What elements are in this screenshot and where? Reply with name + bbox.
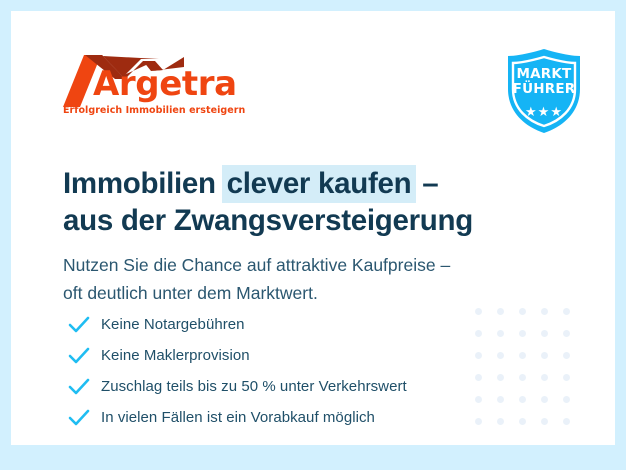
check-icon	[66, 374, 92, 400]
dot	[541, 418, 548, 425]
subheading-line-2: oft deutlich unter dem Marktwert.	[63, 283, 318, 303]
logo-tagline: Erfolgreich Immobilien ersteigern	[63, 105, 245, 116]
dot	[563, 418, 570, 425]
headline-part-before: Immobilien	[63, 167, 224, 200]
dot	[541, 396, 548, 403]
list-item-label: Zuschlag teils bis zu 50 % unter Verkehr…	[101, 377, 407, 397]
list-item-label: Keine Maklerprovision	[101, 346, 250, 366]
subheading-line-1: Nutzen Sie die Chance auf attraktive Kau…	[63, 255, 450, 275]
list-item-label: In vielen Fällen ist ein Vorabkauf mögli…	[101, 408, 375, 428]
badge-stars-icon: ★★★	[500, 105, 588, 118]
list-item: Keine Notargebühren	[66, 309, 536, 340]
benefits-list: Keine Notargebühren Keine Maklerprovisio…	[66, 309, 536, 433]
list-item: Zuschlag teils bis zu 50 % unter Verkehr…	[66, 371, 536, 402]
badge-line-1: MARKT	[500, 67, 588, 82]
dot	[563, 352, 570, 359]
banner-card: Argetra Erfolgreich Immobilien ersteiger…	[11, 11, 615, 445]
check-icon	[66, 405, 92, 431]
check-icon	[66, 343, 92, 369]
headline-highlight: clever kaufen	[222, 165, 417, 203]
dot	[563, 396, 570, 403]
list-item-label: Keine Notargebühren	[101, 315, 245, 335]
promo-banner: Argetra Erfolgreich Immobilien ersteiger…	[0, 0, 626, 470]
dot	[563, 308, 570, 315]
list-item: In vielen Fällen ist ein Vorabkauf mögli…	[66, 402, 536, 433]
check-icon	[66, 312, 92, 338]
dot	[541, 308, 548, 315]
dot	[541, 374, 548, 381]
subheading: Nutzen Sie die Chance auf attraktive Kau…	[63, 251, 583, 307]
page-title: Immobilien clever kaufen – aus der Zwang…	[63, 165, 583, 239]
list-item: Keine Maklerprovision	[66, 340, 536, 371]
dot	[563, 330, 570, 337]
logo-wordmark: Argetra	[93, 67, 237, 101]
market-leader-badge: MARKT FÜHRER ★★★	[500, 47, 588, 135]
dot	[563, 374, 570, 381]
badge-line-2: FÜHRER	[500, 82, 588, 97]
badge-text: MARKT FÜHRER	[500, 67, 588, 97]
headline-part-after: –	[414, 167, 438, 200]
dot	[541, 352, 548, 359]
dot	[541, 330, 548, 337]
argetra-logo: Argetra Erfolgreich Immobilien ersteiger…	[63, 55, 263, 123]
headline-line-2: aus der Zwangsversteigerung	[63, 204, 473, 237]
